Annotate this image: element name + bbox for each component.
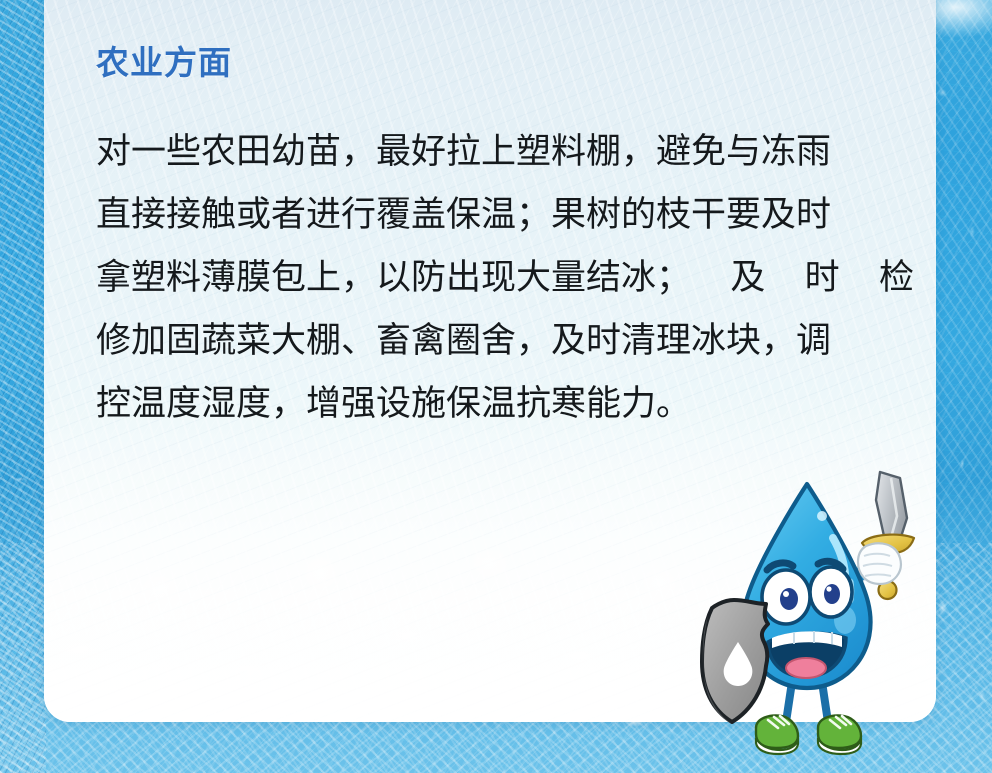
shield-icon xyxy=(702,600,768,724)
section-title: 农业方面 xyxy=(96,36,232,84)
mascot-shoes xyxy=(756,716,861,755)
body-paragraph: 对一些农田幼苗，最好拉上塑料棚，避免与冻雨 直接接触或者进行覆盖保温；果树的枝干… xyxy=(96,120,914,435)
body-line-3-segment-2: 及 xyxy=(730,246,765,309)
body-line-4: 修加固蔬菜大棚、畜禽圈舍，及时清理冰块，调 xyxy=(96,309,914,372)
mascot-gloved-fist xyxy=(858,543,901,584)
body-line-3-segment-4: 检 xyxy=(879,246,914,309)
body-line-3-segment-1: 拿塑料薄膜包上，以防出现大量结冰； xyxy=(96,246,691,309)
body-line-5: 控温度湿度，增强设施保温抗寒能力。 xyxy=(96,372,914,435)
body-line-1: 对一些农田幼苗，最好拉上塑料棚，避免与冻雨 xyxy=(96,120,914,183)
body-line-2: 直接接触或者进行覆盖保温；果树的枝干要及时 xyxy=(96,183,914,246)
body-line-3: 拿塑料薄膜包上，以防出现大量结冰； 及 时 检 xyxy=(96,246,914,309)
water-drop-mascot xyxy=(694,466,944,756)
poster-canvas: 农业方面 对一些农田幼苗，最好拉上塑料棚，避免与冻雨 直接接触或者进行覆盖保温；… xyxy=(0,0,992,773)
body-line-3-segment-3: 时 xyxy=(805,246,840,309)
